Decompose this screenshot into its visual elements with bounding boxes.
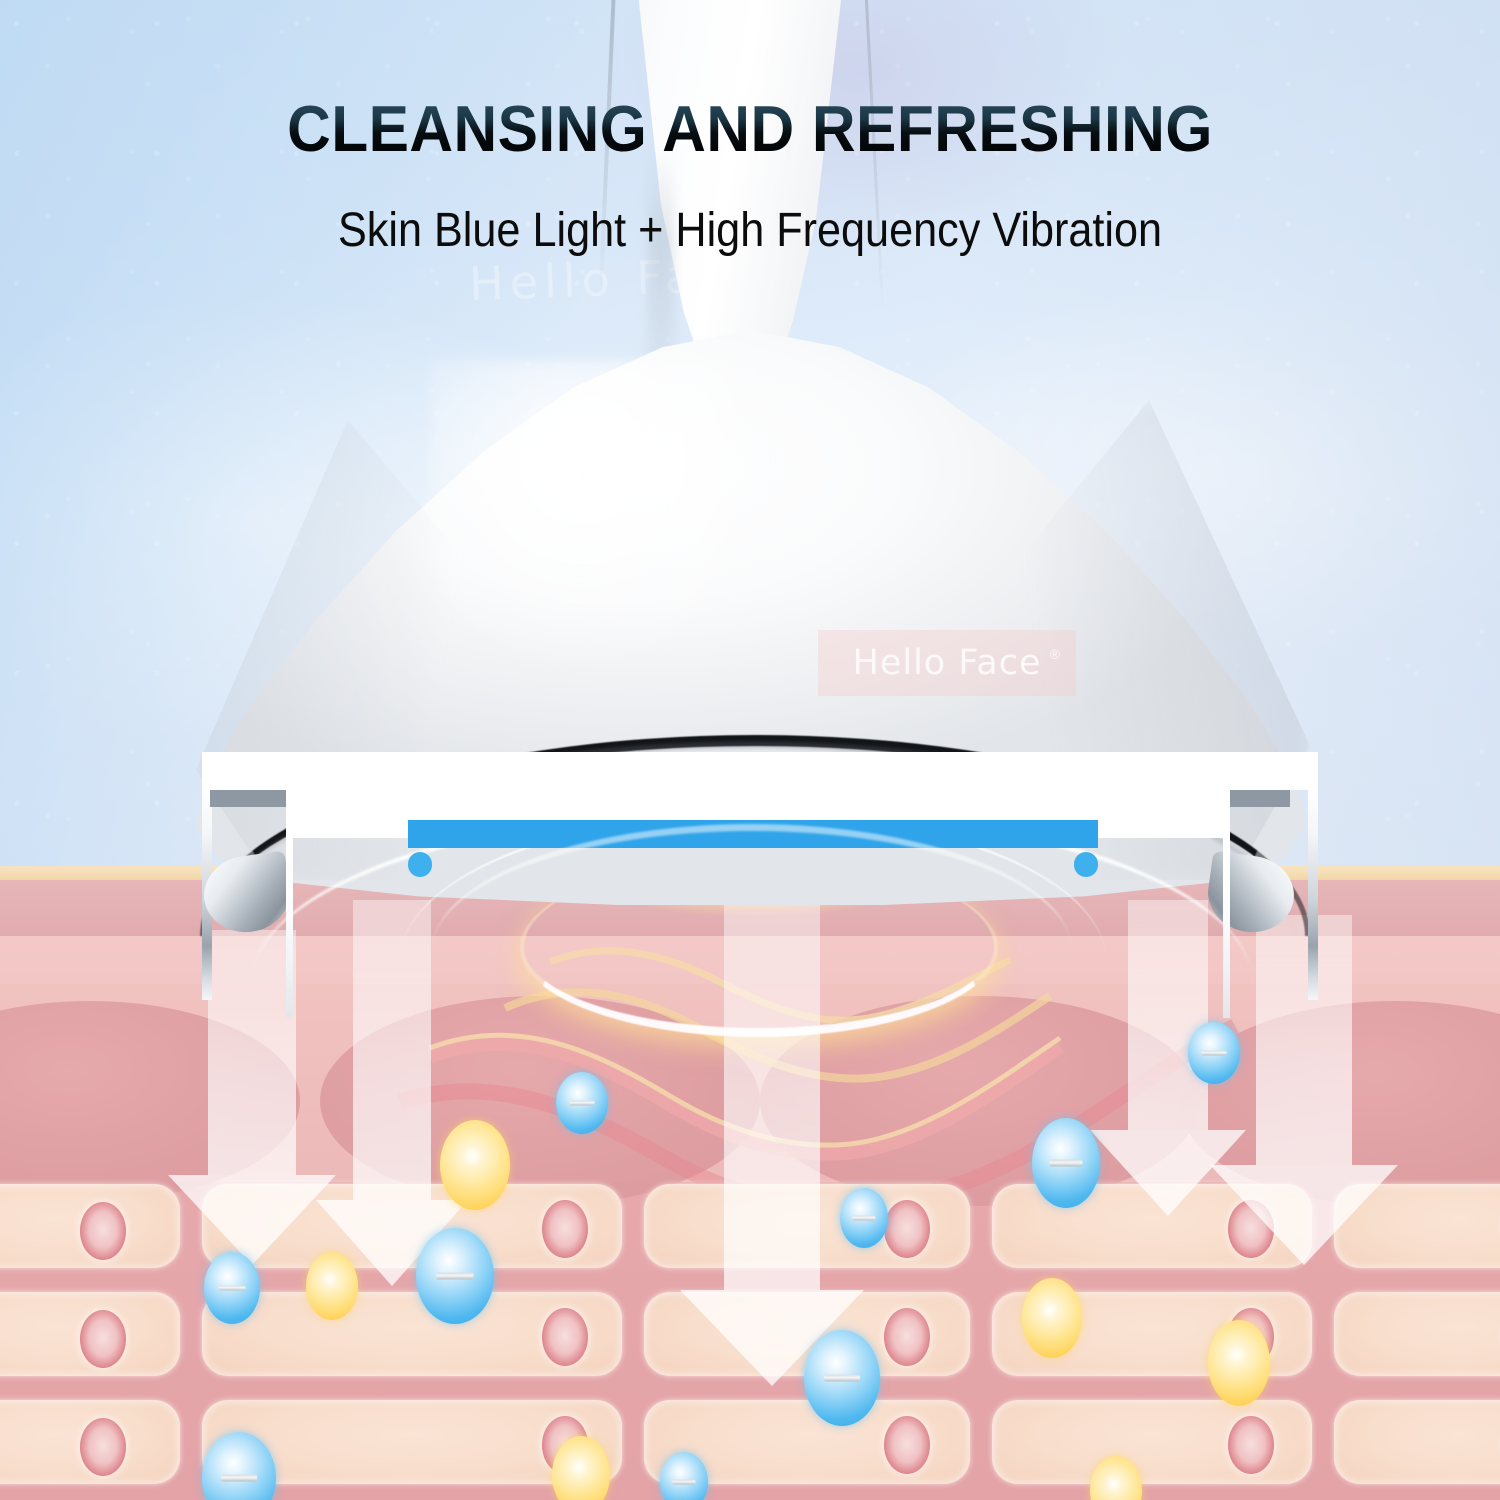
device-highlight (430, 360, 810, 690)
nutrient-bubble (1208, 1320, 1270, 1406)
cell-nucleus (1228, 1416, 1274, 1474)
negative-ion-bubble (840, 1188, 888, 1248)
negative-ion-bubble (1032, 1118, 1100, 1208)
cell-nucleus (80, 1202, 126, 1260)
minus-sign-icon (219, 1286, 246, 1291)
minus-sign-icon (1050, 1160, 1083, 1167)
negative-ion-bubble (416, 1228, 494, 1324)
minus-sign-icon (570, 1101, 595, 1106)
minus-sign-icon (437, 1273, 474, 1280)
page-subtitle: Skin Blue Light + High Frequency Vibrati… (75, 203, 1425, 258)
cell-nucleus (80, 1310, 126, 1368)
negative-ion-bubble (804, 1330, 880, 1426)
nutrient-bubble (306, 1252, 358, 1320)
skin-cell (0, 1292, 180, 1376)
cell-nucleus (884, 1200, 930, 1258)
skin-cell (1334, 1292, 1500, 1376)
minus-sign-icon (824, 1375, 860, 1382)
minus-sign-icon (1202, 1051, 1227, 1056)
arrow-head (1210, 1165, 1398, 1265)
cell-nucleus (542, 1200, 588, 1258)
page-title: CLEANSING AND REFRESHING (53, 96, 1448, 162)
skin-cell (1334, 1400, 1500, 1484)
skin-cell (0, 1184, 180, 1268)
device-handle (575, 0, 905, 380)
registered-mark: ® (1050, 646, 1060, 662)
arrow-head (168, 1175, 336, 1265)
cell-nucleus (884, 1416, 930, 1474)
skin-cell (992, 1400, 1312, 1484)
negative-ion-bubble (204, 1252, 260, 1324)
skin-cell (0, 1400, 180, 1484)
product-infographic: Hello Face (0, 0, 1500, 1500)
minus-sign-icon (221, 1475, 257, 1482)
negative-ion-bubble (1188, 1022, 1240, 1084)
cell-nucleus (542, 1308, 588, 1366)
cell-nucleus (884, 1308, 930, 1366)
led-cap-left (408, 852, 432, 877)
nutrient-bubble (1022, 1278, 1082, 1358)
nutrient-bubble (440, 1120, 510, 1210)
negative-ion-bubble (556, 1072, 608, 1134)
minus-sign-icon (673, 1480, 696, 1485)
led-cap-right (1074, 852, 1098, 877)
cell-nucleus (80, 1418, 126, 1476)
brand-watermark-text: Hello Face (853, 643, 1042, 683)
brand-watermark: Hello Face ® (818, 630, 1076, 696)
skin-cell (202, 1292, 622, 1376)
minus-sign-icon (853, 1216, 876, 1221)
